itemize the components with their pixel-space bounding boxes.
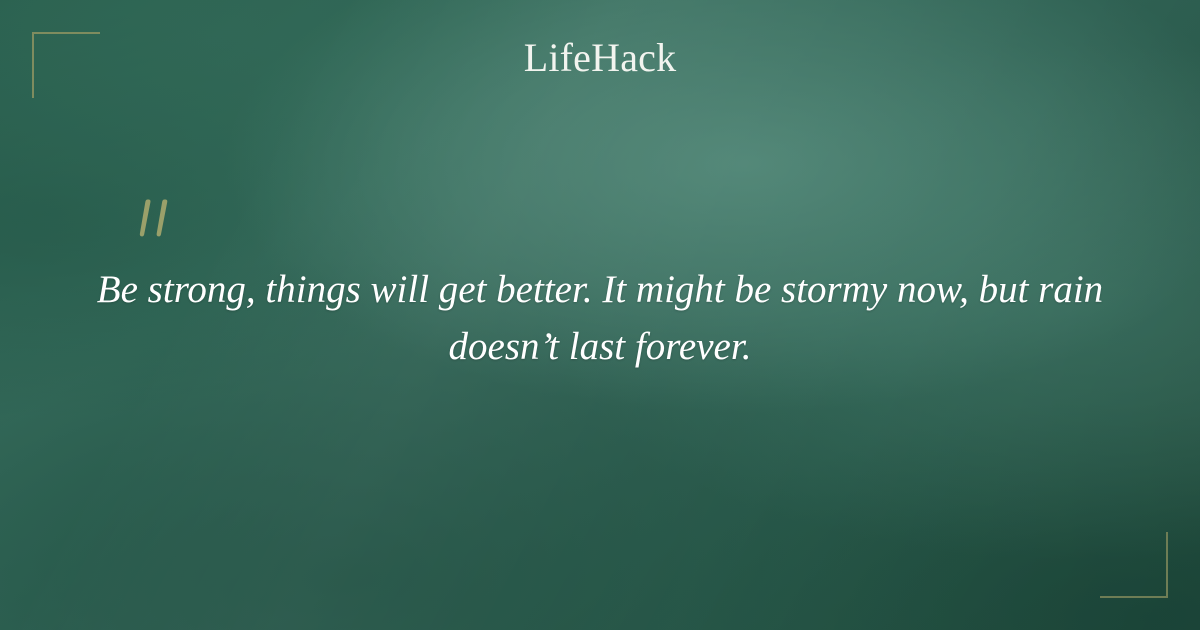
quote-mark-icon <box>136 198 180 246</box>
quote-mark-glyph <box>136 198 180 246</box>
quote-card: LifeHack Be strong, things will get bett… <box>0 0 1200 630</box>
brand-logo: LifeHack <box>0 38 1200 78</box>
quote-text: Be strong, things will get better. It mi… <box>90 262 1110 375</box>
corner-bracket-bottom-right-icon <box>1100 532 1168 598</box>
